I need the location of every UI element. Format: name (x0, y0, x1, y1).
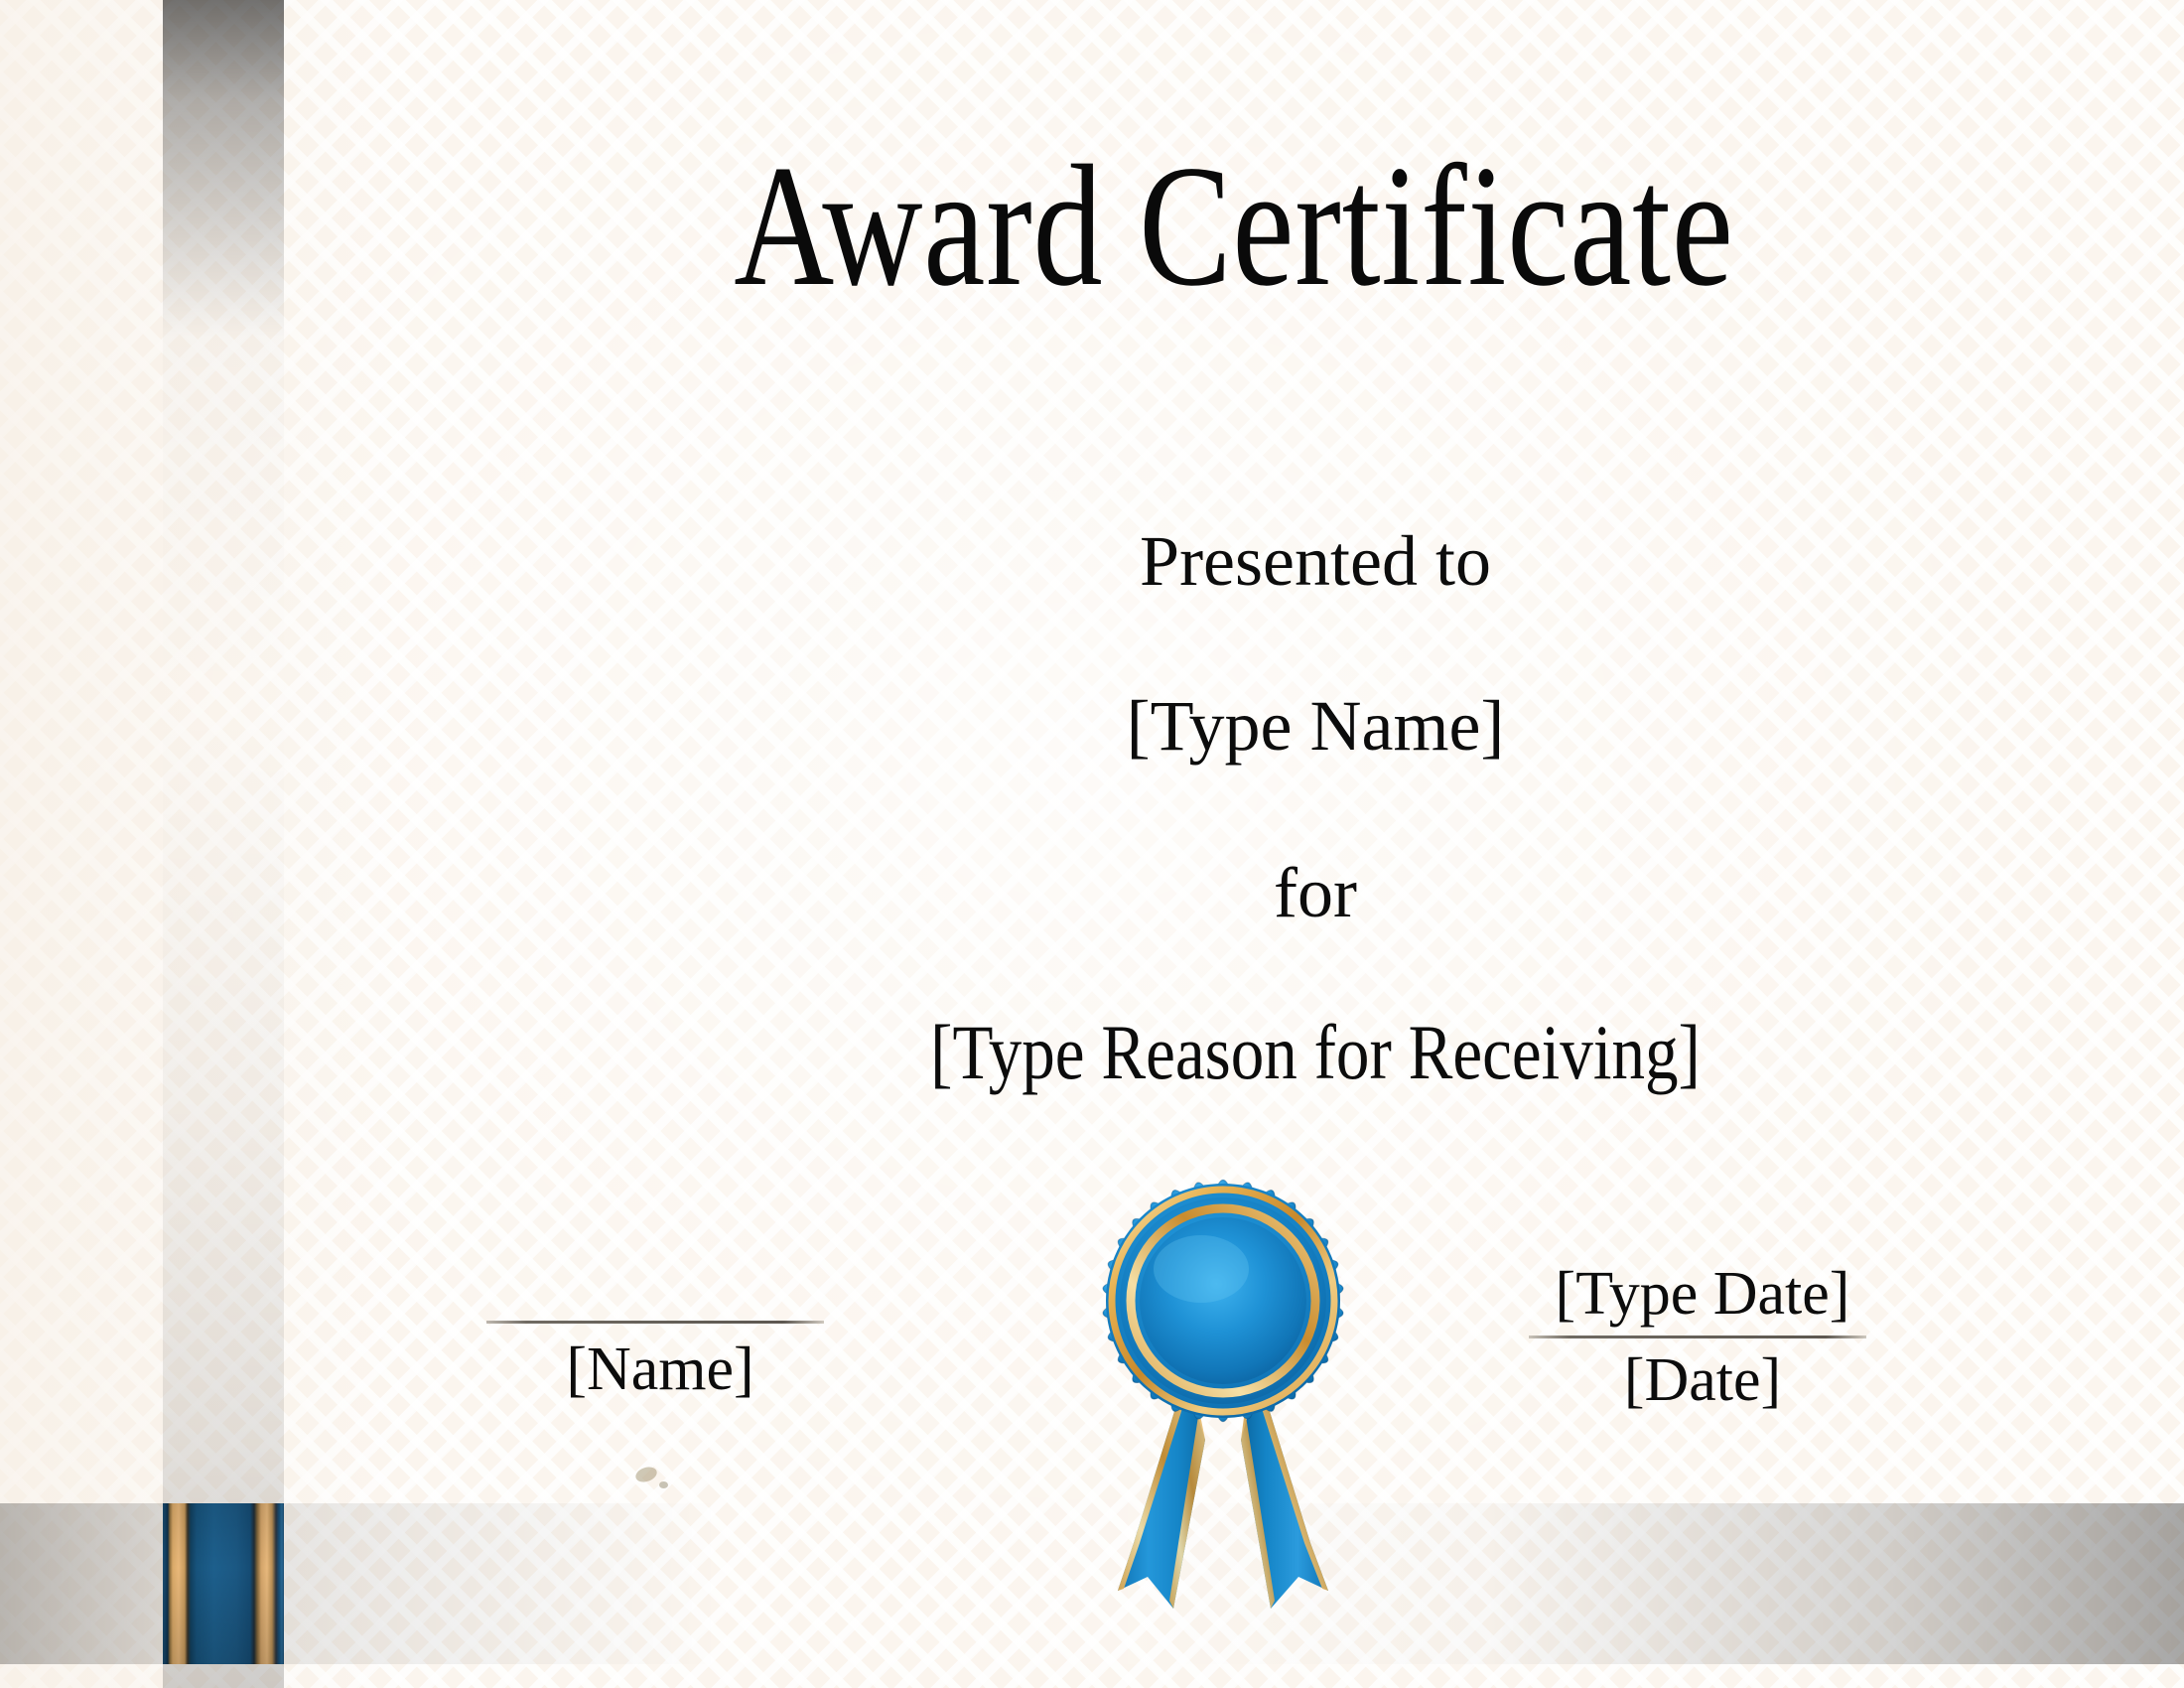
award-certificate: Award Certificate Presented to [Type Nam… (0, 0, 2184, 1688)
signature-rule (486, 1321, 824, 1324)
page-title: Award Certificate (474, 139, 1993, 313)
date-value-field[interactable]: [Type Date] (1529, 1261, 1876, 1328)
date-rule (1529, 1336, 1866, 1338)
recipient-name-field[interactable]: [Type Name] (695, 685, 1936, 768)
left-vertical-ribbon-border (163, 0, 284, 1688)
signature-block: [Name] (486, 1321, 834, 1402)
presented-to-label: Presented to (695, 520, 1936, 603)
paper-speck-small (659, 1481, 668, 1488)
date-block: [Type Date] [Date] (1529, 1261, 1876, 1413)
signature-name-label[interactable]: [Name] (486, 1337, 834, 1402)
rosette-highlight (1154, 1235, 1249, 1303)
date-label[interactable]: [Date] (1529, 1348, 1876, 1413)
award-rosette-icon (1074, 1142, 1372, 1618)
reason-field[interactable]: [Type Reason for Receiving] (782, 1008, 1849, 1097)
award-seal (1074, 1142, 1372, 1618)
for-label: for (695, 852, 1936, 934)
ribbon-border-intersection (163, 1503, 284, 1664)
